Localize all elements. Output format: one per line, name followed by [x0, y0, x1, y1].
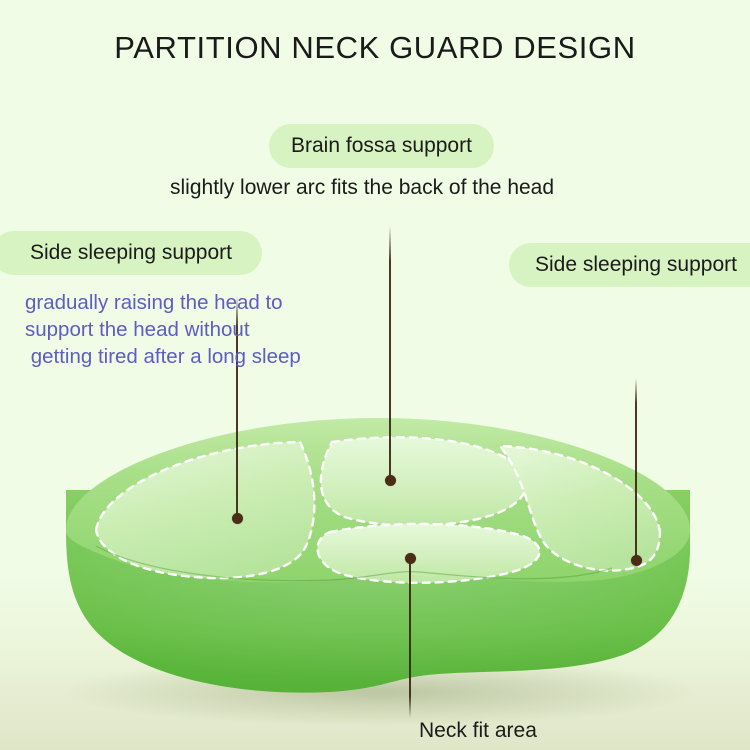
panel-left	[96, 442, 314, 578]
label-brain-fossa-support: Brain fossa support	[269, 124, 494, 168]
label-side-sleeping-left: Side sleeping support	[0, 231, 262, 275]
marker-dot-side-left	[232, 513, 243, 524]
leader-line-brain-fossa	[389, 226, 391, 480]
label-side-sleeping-right: Side sleeping support	[509, 243, 750, 287]
marker-dot-side-right	[631, 555, 642, 566]
leader-line-side-right	[635, 378, 637, 560]
page-title: PARTITION NECK GUARD DESIGN	[0, 30, 750, 66]
marker-dot-brain-fossa	[385, 475, 396, 486]
leader-line-neck-fit	[409, 558, 411, 718]
label-neck-fit-area: Neck fit area	[419, 719, 537, 743]
marker-dot-neck-fit	[405, 553, 416, 564]
caption-lower-arc: slightly lower arc fits the back of the …	[170, 176, 554, 200]
infographic-canvas: PARTITION NECK GUARD DESIGN	[0, 0, 750, 750]
description-side-sleeping: gradually raising the head to support th…	[25, 289, 365, 370]
